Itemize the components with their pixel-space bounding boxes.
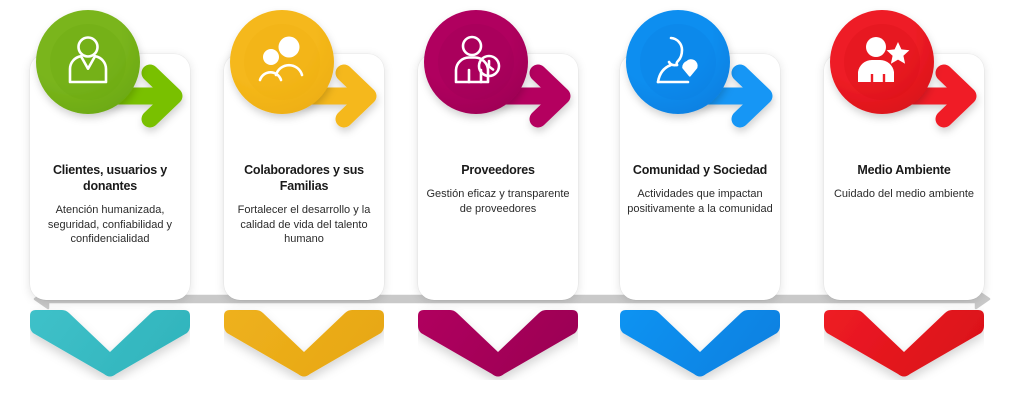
stakeholder-panel-comunidad[interactable]: Comunidad y Sociedad Actividades que imp…	[612, 0, 808, 412]
panel-text-colaboradores: Colaboradores y sus Familias Fortalecer …	[224, 162, 384, 247]
panel-text-comunidad: Comunidad y Sociedad Actividades que imp…	[620, 162, 780, 216]
panel-text-clientes: Clientes, usuarios y donantes Atención h…	[30, 162, 190, 247]
panel-chevron-colaboradores	[224, 306, 384, 380]
family-two-people-icon	[216, 0, 412, 170]
panel-description-medio-ambiente: Cuidado del medio ambiente	[830, 187, 978, 202]
person-with-heart-icon	[612, 0, 808, 170]
stakeholder-panel-clientes[interactable]: Clientes, usuarios y donantes Atención h…	[22, 0, 218, 412]
panel-chevron-comunidad	[620, 306, 780, 380]
panel-chevron-proveedores	[418, 306, 578, 380]
stakeholder-panel-colaboradores[interactable]: Colaboradores y sus Familias Fortalecer …	[216, 0, 412, 412]
infographic-canvas: Clientes, usuarios y donantes Atención h…	[0, 0, 1024, 412]
panel-text-proveedores: Proveedores Gestión eficaz y transparent…	[418, 162, 578, 216]
stakeholder-panel-medio-ambiente[interactable]: Medio Ambiente Cuidado del medio ambient…	[816, 0, 1012, 412]
panel-description-proveedores: Gestión eficaz y transparente de proveed…	[424, 187, 572, 216]
stakeholder-panel-proveedores[interactable]: Proveedores Gestión eficaz y transparent…	[410, 0, 606, 412]
person-user-icon	[22, 0, 218, 170]
panel-description-colaboradores: Fortalecer el desarrollo y la calidad de…	[230, 203, 378, 247]
person-with-star-icon	[816, 0, 1012, 170]
panel-chevron-medio-ambiente	[824, 306, 984, 380]
person-with-clock-icon	[410, 0, 606, 170]
panel-description-comunidad: Actividades que impactan positivamente a…	[626, 187, 774, 216]
panel-chevron-clientes	[30, 306, 190, 380]
panel-description-clientes: Atención humanizada, seguridad, confiabi…	[36, 203, 184, 247]
